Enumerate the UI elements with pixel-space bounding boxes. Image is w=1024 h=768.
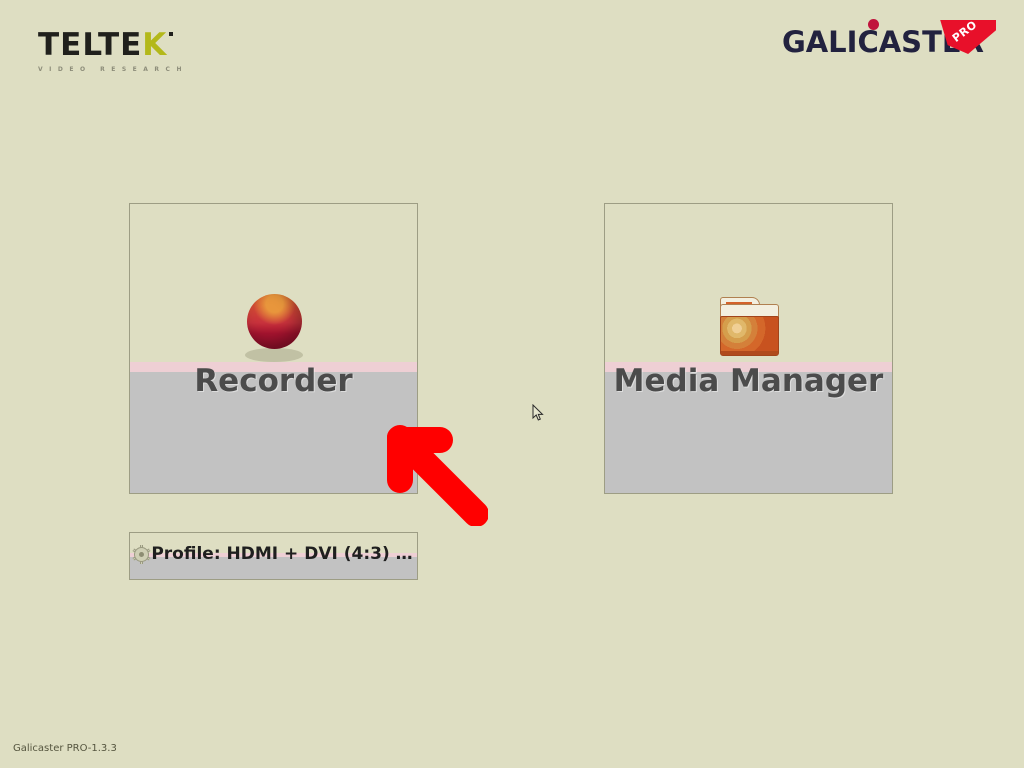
version-text: Galicaster PRO-1.3.3 (13, 743, 117, 754)
recorder-icon-wrap (130, 294, 417, 366)
panel-media-manager[interactable] (604, 203, 893, 494)
media-manager-panel-lower (605, 362, 892, 493)
teltek-wordmark: TELTEK (38, 30, 238, 61)
teltek-wordmark-accent: K (142, 27, 167, 63)
orange-folder-icon (714, 294, 784, 358)
galicaster-i-dot-icon (868, 19, 879, 30)
profile-button[interactable]: Profile: HDMI + DVI (4:3) … (129, 532, 418, 580)
gear-body (134, 547, 149, 562)
teltek-logo: TELTEK VIDEO RESEARCH (38, 30, 238, 76)
mouse-cursor (532, 404, 544, 422)
red-sphere-icon (243, 294, 305, 362)
profile-button-content: Profile: HDMI + DVI (4:3) … (130, 544, 417, 564)
teltek-wordmark-main: TELTE (38, 27, 142, 63)
galicaster-wordmark: GALICASTER PRO (782, 28, 984, 57)
folder-front (720, 316, 779, 356)
teltek-dot-icon (169, 32, 173, 36)
recorder-panel-lower (130, 362, 417, 493)
teltek-tagline: VIDEO RESEARCH (38, 66, 238, 73)
sphere-body (247, 294, 302, 349)
sphere-shadow (245, 348, 303, 362)
profile-button-label: Profile: HDMI + DVI (4:3) … (151, 544, 412, 564)
galicaster-logo: GALICASTER PRO (782, 28, 984, 76)
pro-badge-ribbon: PRO (934, 20, 996, 54)
media-manager-icon-wrap (605, 294, 892, 366)
gear-icon (134, 547, 149, 562)
panel-recorder[interactable] (129, 203, 418, 494)
